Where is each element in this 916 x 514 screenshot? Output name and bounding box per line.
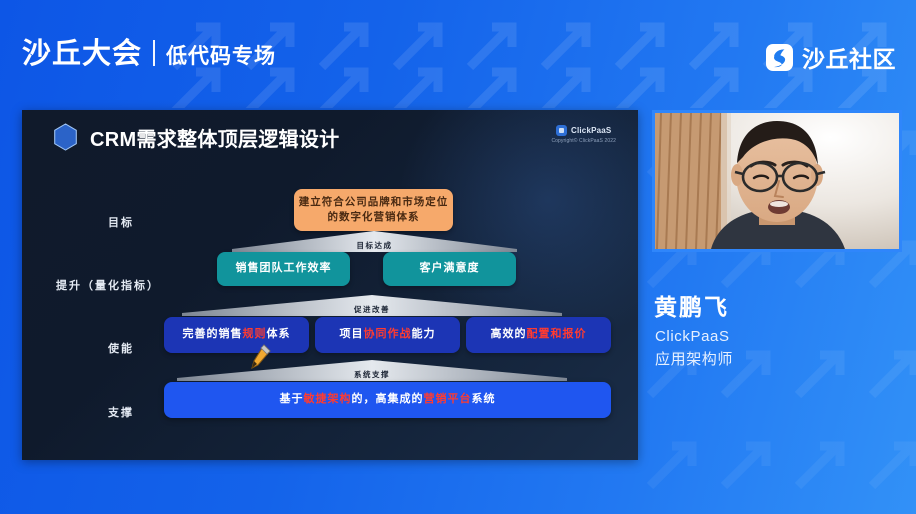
- band-promote-improvement: 促进改善: [182, 294, 562, 316]
- enable-3-highlight: 配置和报价: [527, 328, 587, 340]
- event-header: 沙丘大会 低代码专场 沙丘社区: [0, 0, 916, 102]
- enable-1-prefix: 完善的销售: [183, 328, 243, 340]
- speaker-role: 应用架构师: [655, 348, 733, 371]
- presentation-page: 沙丘大会 低代码专场 沙丘社区 CRM需求整体顶层逻辑设计: [0, 0, 916, 514]
- speaker-name: 黄鹏飞: [654, 288, 729, 322]
- row-label-goal: 目标: [108, 214, 134, 230]
- community-branding: 沙丘社区: [766, 40, 896, 74]
- vendor-copyright: Copyright© ClickPaaS 2022: [551, 138, 616, 144]
- event-branding: 沙丘大会 低代码专场: [22, 37, 276, 69]
- band-label-promote-improvement: 促进改善: [182, 304, 562, 315]
- speaker-company: ClickPaaS: [655, 325, 733, 348]
- community-name: 沙丘社区: [802, 40, 896, 74]
- event-title: 沙丘大会: [22, 40, 142, 69]
- slide-header: CRM需求整体顶层逻辑设计: [52, 122, 339, 152]
- enable-2-prefix: 项目: [340, 328, 364, 340]
- support-middle: 的，高集成的: [352, 393, 424, 405]
- support-suffix: 系统: [472, 393, 496, 405]
- enable-1-highlight: 规则: [243, 328, 267, 340]
- title-separator: [153, 40, 155, 66]
- slide-title: CRM需求整体顶层逻辑设计: [90, 123, 339, 152]
- row-label-support: 支撑: [108, 404, 134, 420]
- vendor-logo-block: ClickPaaS Copyright© ClickPaaS 2022: [551, 125, 616, 144]
- speaker-panel: 黄鹏飞 ClickPaaS 应用架构师: [652, 110, 902, 460]
- speaker-webcam-video[interactable]: [652, 110, 902, 252]
- vendor-name: ClickPaaS: [571, 126, 612, 135]
- support-prefix: 基于: [280, 393, 304, 405]
- sandhill-s-logo-icon: [766, 44, 793, 71]
- enable-box-1: 完善的销售规则体系: [164, 317, 309, 353]
- support-highlight-2: 营销平台: [424, 393, 472, 405]
- goal-line-2: 的数字化营销体系: [328, 210, 420, 225]
- enable-1-suffix: 体系: [267, 328, 291, 340]
- enable-3-prefix: 高效的: [491, 328, 527, 340]
- metric-box-1: 销售团队工作效率: [217, 252, 350, 286]
- band-goal-achievement: 目标达成: [232, 230, 517, 252]
- band-label-goal-achievement: 目标达成: [232, 240, 517, 251]
- enable-box-3: 高效的配置和报价: [466, 317, 611, 353]
- clickpaas-badge-icon: [556, 125, 567, 136]
- event-subtitle: 低代码专场: [166, 46, 276, 67]
- support-highlight-1: 敏捷架构: [304, 393, 352, 405]
- speaker-affiliation: ClickPaaS 应用架构师: [655, 325, 733, 372]
- band-system-support: 系统支撑: [177, 359, 567, 381]
- support-box: 基于敏捷架构的，高集成的营销平台系统: [164, 382, 611, 418]
- row-label-enablement: 使能: [108, 340, 134, 356]
- enable-2-highlight: 协同作战: [364, 328, 412, 340]
- enable-box-2: 项目协同作战能力: [315, 317, 460, 353]
- metric-box-2: 客户满意度: [383, 252, 516, 286]
- goal-line-1: 建立符合公司品牌和市场定位: [299, 195, 449, 210]
- row-label-improvement: 提升（量化指标）: [56, 277, 160, 293]
- slide-canvas: CRM需求整体顶层逻辑设计 ClickPaaS Copyright© Click…: [22, 110, 638, 460]
- band-label-system-support: 系统支撑: [177, 369, 567, 380]
- hexagon-icon: [52, 122, 79, 152]
- enable-2-suffix: 能力: [412, 328, 436, 340]
- goal-box: 建立符合公司品牌和市场定位 的数字化营销体系: [294, 189, 453, 231]
